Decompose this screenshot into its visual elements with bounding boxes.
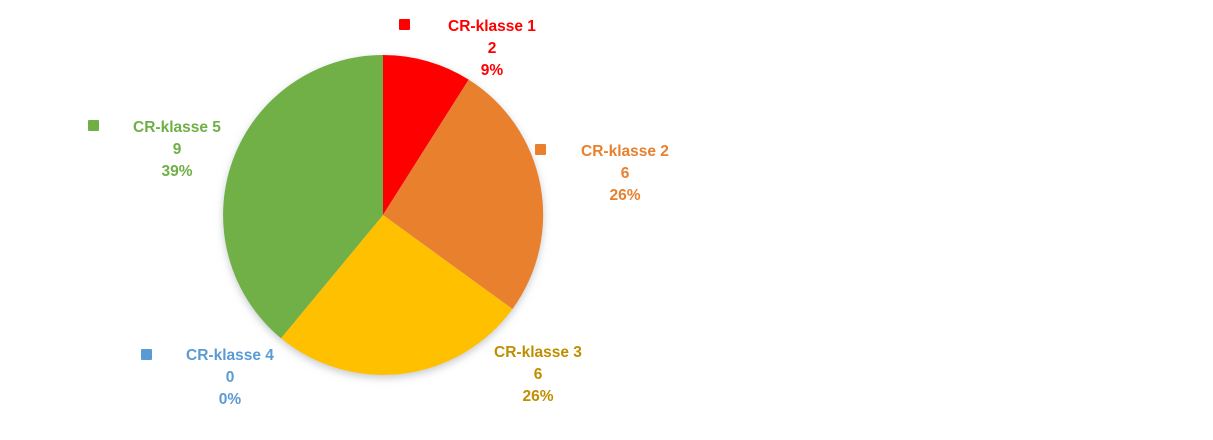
data-label-name: CR-klasse 4: [170, 345, 290, 367]
pie-svg: [223, 55, 543, 375]
data-label-percent: 39%: [117, 161, 237, 183]
data-label-percent: 0%: [170, 389, 290, 411]
data-label-value: 2: [432, 38, 552, 60]
data-label-value: 0: [170, 367, 290, 389]
data-label-cr-klasse-5: CR-klasse 5 9 39%: [117, 117, 237, 183]
data-label-cr-klasse-2: CR-klasse 2 6 26%: [565, 141, 685, 207]
pie-graphic: [223, 55, 543, 375]
data-label-value: 6: [565, 163, 685, 185]
data-label-percent: 26%: [565, 185, 685, 207]
pie-chart: CR-klasse 1 2 9% CR-klasse 2 6 26% CR-kl…: [0, 0, 1213, 440]
data-label-value: 9: [117, 139, 237, 161]
data-label-cr-klasse-4: CR-klasse 4 0 0%: [170, 345, 290, 411]
data-label-cr-klasse-3: CR-klasse 3 6 26%: [478, 342, 598, 408]
data-label-value: 6: [478, 364, 598, 386]
data-label-name: CR-klasse 3: [478, 342, 598, 364]
pie-slices: [223, 55, 543, 375]
legend-marker-cr-klasse-5: [88, 120, 99, 131]
data-label-name: CR-klasse 1: [432, 16, 552, 38]
legend-marker-cr-klasse-4: [141, 349, 152, 360]
data-label-cr-klasse-1: CR-klasse 1 2 9%: [432, 16, 552, 82]
legend-marker-cr-klasse-2: [535, 144, 546, 155]
data-label-name: CR-klasse 5: [117, 117, 237, 139]
data-label-percent: 9%: [432, 60, 552, 82]
data-label-percent: 26%: [478, 386, 598, 408]
legend-marker-cr-klasse-1: [399, 19, 410, 30]
data-label-name: CR-klasse 2: [565, 141, 685, 163]
